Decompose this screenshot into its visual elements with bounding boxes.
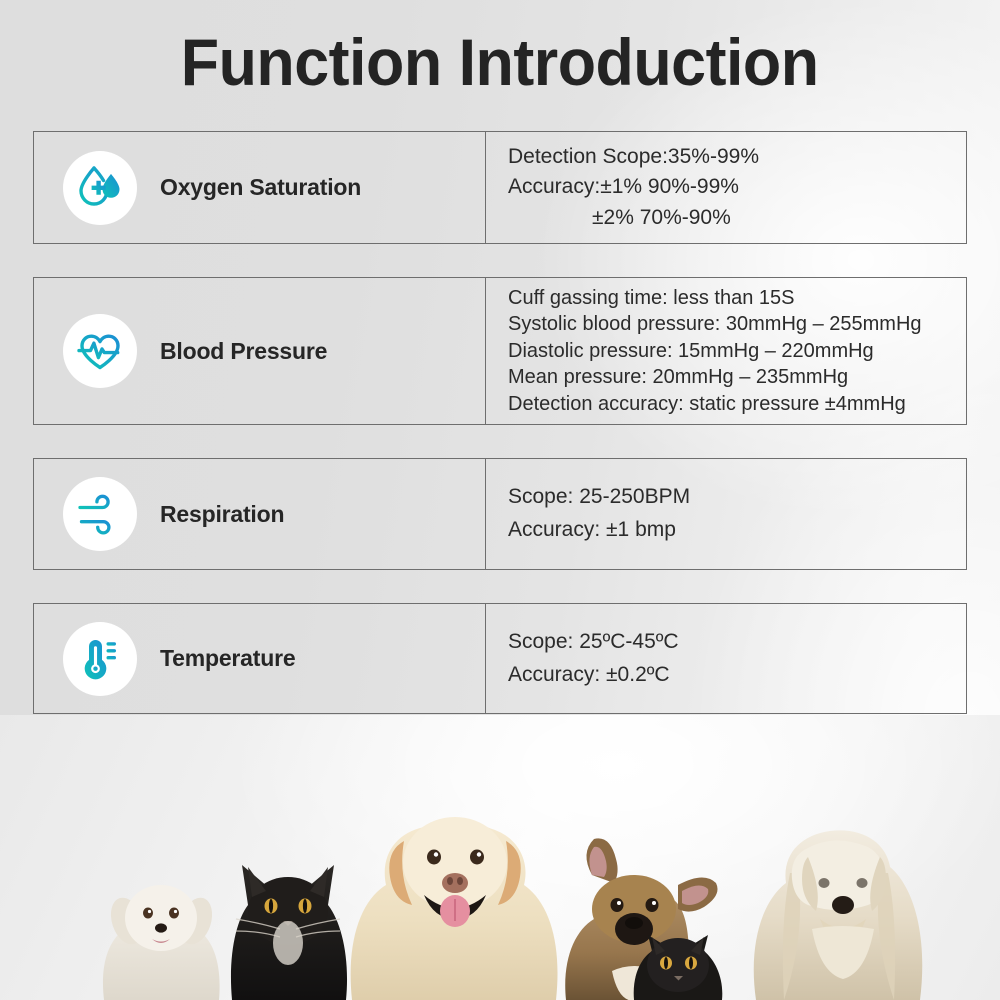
spec-cell-temperature: Scope: 25ºC-45ºC Accuracy: ±0.2ºC [486, 604, 966, 713]
feature-cell-oxygen-saturation: Oxygen Saturation [34, 132, 486, 243]
black-cat [231, 865, 347, 1000]
spec-line: Systolic blood pressure: 30mmHg – 255mmH… [508, 311, 956, 338]
spec-cell-oxygen-saturation: Detection Scope:35%-99% Accuracy:±1% 90%… [486, 132, 966, 243]
spec-line: Diastolic pressure: 15mmHg – 220mmHg [508, 338, 956, 365]
yellow-labrador [351, 817, 558, 1000]
feature-cell-temperature: Temperature [34, 604, 486, 713]
feature-label: Respiration [160, 501, 284, 528]
table-row-respiration: Respiration Scope: 25-250BPM Accuracy: ±… [33, 458, 967, 570]
specification-table: Oxygen Saturation Detection Scope:35%-99… [33, 131, 967, 747]
table-row-oxygen-saturation: Oxygen Saturation Detection Scope:35%-99… [33, 131, 967, 244]
table-row-temperature: Temperature Scope: 25ºC-45ºC Accuracy: ±… [33, 603, 967, 714]
feature-label: Oxygen Saturation [160, 174, 361, 201]
spec-cell-blood-pressure: Cuff gassing time: less than 15S Systoli… [486, 278, 966, 424]
feature-label: Temperature [160, 645, 295, 672]
table-row-blood-pressure: Blood Pressure Cuff gassing time: less t… [33, 277, 967, 425]
spec-line: Scope: 25ºC-45ºC [508, 626, 956, 659]
spec-line: Cuff gassing time: less than 15S [508, 285, 956, 312]
spec-line: Accuracy: ±1 bmp [508, 514, 956, 547]
pet-photo [0, 715, 1000, 1000]
spec-line: Detection Scope:35%-99% [508, 142, 956, 173]
wind-airflow-icon [63, 477, 137, 551]
spec-line: Scope: 25-250BPM [508, 481, 956, 514]
blood-drop-plus-icon [63, 151, 137, 225]
spec-line: Accuracy: ±0.2ºC [508, 659, 956, 692]
thermometer-icon [63, 622, 137, 696]
page-title-container: Function Introduction [0, 28, 1000, 97]
feature-label: Blood Pressure [160, 338, 327, 365]
spec-cell-respiration: Scope: 25-250BPM Accuracy: ±1 bmp [486, 459, 966, 569]
white-curly-dog [103, 885, 220, 1000]
bearded-collie [754, 830, 923, 1000]
page-title: Function Introduction [181, 28, 819, 97]
function-introduction-page: Function Introduction [0, 0, 1000, 1000]
spec-line: ±2% 70%-90% [508, 203, 956, 234]
feature-cell-respiration: Respiration [34, 459, 486, 569]
heart-pulse-icon [63, 314, 137, 388]
spec-line: Mean pressure: 20mmHg – 235mmHg [508, 364, 956, 391]
spec-line: Accuracy:±1% 90%-99% [508, 172, 956, 203]
feature-cell-blood-pressure: Blood Pressure [34, 278, 486, 424]
spec-line: Detection accuracy: static pressure ±4mm… [508, 391, 956, 418]
